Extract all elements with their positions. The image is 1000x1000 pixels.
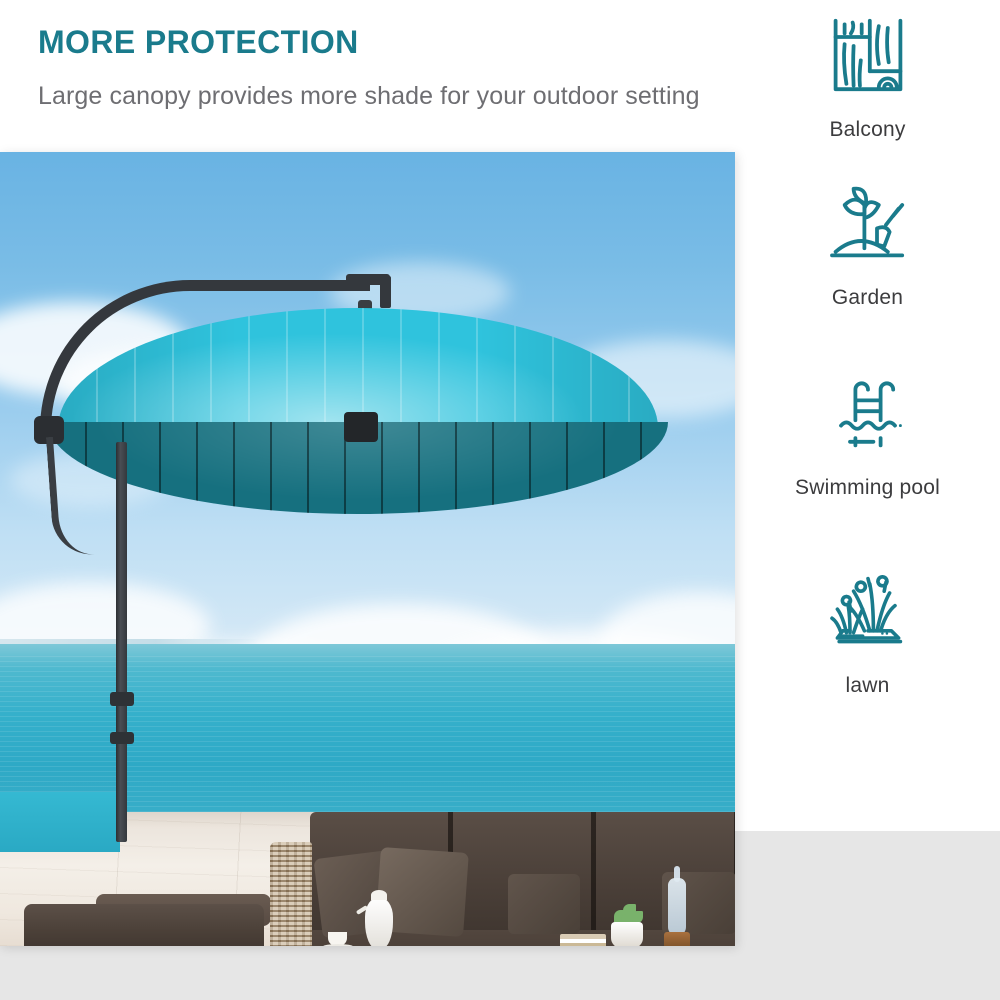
umbrella-pole — [116, 442, 127, 842]
page-subtitle: Large canopy provides more shade for you… — [38, 82, 700, 111]
decanter-wood-base — [664, 932, 690, 946]
lawn-highlight-band — [735, 831, 1000, 1000]
page-title: MORE PROTECTION — [38, 24, 359, 61]
feature-label: Garden — [832, 286, 903, 310]
stacked-books — [560, 934, 606, 946]
feature-label: Swimming pool — [795, 476, 940, 500]
pool-edge — [0, 792, 120, 852]
sofa-armrest — [270, 842, 312, 946]
plant-pot — [611, 922, 643, 946]
umbrella-canopy-top — [58, 308, 658, 428]
rattan-ottoman — [16, 904, 266, 946]
plant-trowel-icon — [818, 178, 918, 268]
umbrella-arm-drop — [380, 276, 391, 308]
product-feature-banner: MORE PROTECTION Large canopy provides mo… — [0, 0, 1000, 1000]
umbrella-hub — [344, 412, 378, 442]
pool-ladder-icon — [818, 368, 918, 458]
glass-decanter — [668, 878, 686, 936]
cantilever-umbrella — [28, 272, 688, 632]
ottoman-cushion — [24, 904, 264, 946]
feature-item-balcony[interactable]: Balcony — [735, 10, 1000, 142]
umbrella-pole-bracket — [110, 732, 134, 744]
canopy-ribs — [58, 308, 658, 428]
grass-lawn-icon — [818, 566, 918, 656]
umbrella-strut — [46, 431, 144, 557]
wood-deck-icon — [818, 10, 918, 100]
feature-label: Balcony — [829, 118, 905, 142]
umbrella-pole-bracket — [110, 692, 134, 706]
teapot-lid — [371, 890, 387, 900]
product-photo — [0, 152, 735, 946]
teapot — [365, 897, 393, 946]
feature-item-lawn[interactable]: lawn — [735, 566, 1000, 698]
feature-item-garden[interactable]: Garden — [735, 178, 1000, 310]
feature-item-swimming-pool[interactable]: Swimming pool — [735, 368, 1000, 500]
throw-pillow — [508, 874, 580, 934]
saucer — [323, 944, 353, 946]
rattan-sofa — [270, 802, 735, 946]
feature-label: lawn — [846, 674, 890, 698]
